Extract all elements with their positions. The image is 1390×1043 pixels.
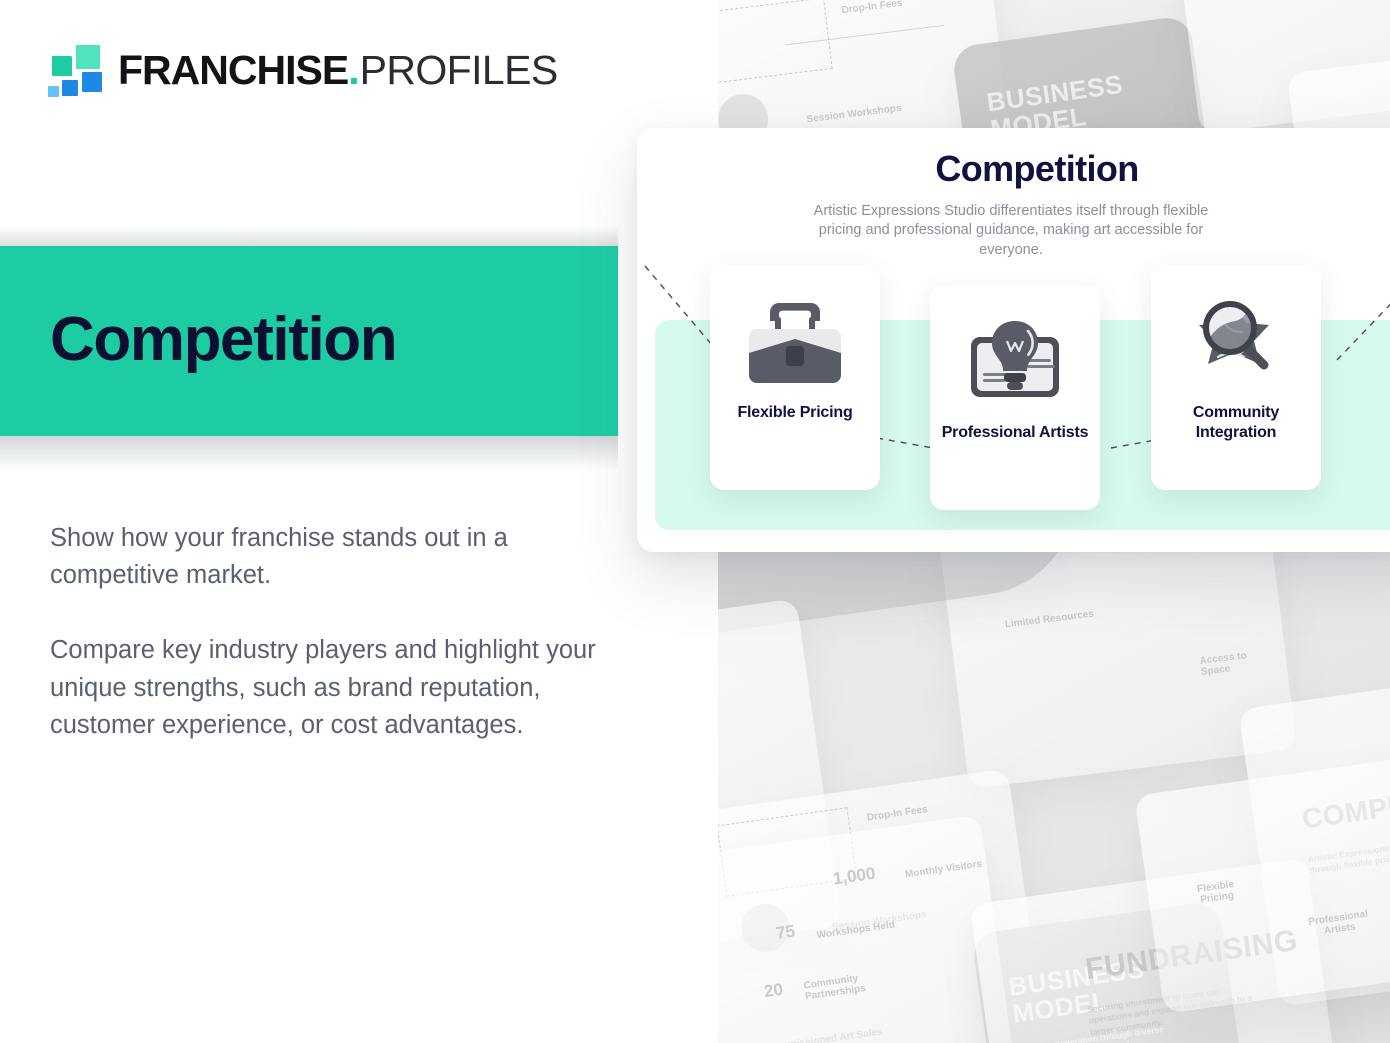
feature-card-flexible-pricing[interactable]: Flexible Pricing — [710, 265, 880, 490]
logo-mark-icon — [48, 44, 104, 96]
brand-name-bold: FRANCHISE — [118, 47, 348, 93]
feature-label: Flexible Pricing — [737, 403, 852, 423]
description-paragraph-1: Show how your franchise stands out in a … — [50, 520, 620, 594]
ghost-row-label: Drop-In Fees — [866, 804, 928, 823]
feature-card-professional-artists[interactable]: Professional Artists — [930, 285, 1100, 510]
ghost-stat-label: Workshops Held — [816, 919, 895, 941]
ghost-stat-value: 20 — [763, 980, 785, 1002]
brand-logo[interactable]: FRANCHISE.PROFILES — [48, 44, 558, 96]
feature-card-community-integration[interactable]: Community Integration — [1151, 265, 1321, 490]
lightbulb-board-icon — [959, 315, 1071, 411]
section-description: Show how your franchise stands out in a … — [50, 520, 620, 744]
ghost-problem-item: Access to Space — [1199, 647, 1273, 678]
star-magnifier-icon — [1180, 295, 1292, 391]
ghost-comp-item: Flexible Pricing — [1187, 878, 1246, 908]
slide-preview-card[interactable]: Competition Artistic Expressions Studio … — [637, 128, 1390, 552]
ghost-row-label: Drop-In Fees — [841, 0, 903, 16]
brand-wordmark: FRANCHISE.PROFILES — [118, 50, 558, 91]
ghost-slide-competition-icons: Flexible Pricing Professional Artists Co… — [1134, 754, 1390, 1014]
ghost-problem-item: Limited Resources — [1001, 608, 1098, 631]
ghost-stat-value: 75 — [775, 921, 797, 943]
feature-label: Community Integration — [1151, 403, 1321, 443]
brand-name-light: PROFILES — [360, 47, 558, 93]
band-shadow-top — [0, 226, 618, 248]
ghost-stat-label: Monthly Visitors — [904, 859, 982, 881]
ghost-stat-label: Community Partnerships — [803, 971, 875, 1003]
ghost-row-label: Session Workshops — [806, 103, 902, 126]
slide-subtitle: Artistic Expressions Studio differentiat… — [813, 202, 1209, 260]
slide-title: Competition — [637, 148, 1390, 190]
page-title: Competition — [50, 309, 396, 371]
briefcase-icon — [739, 295, 851, 391]
feature-label: Professional Artists — [942, 423, 1089, 443]
ghost-comp-item: Professional Artists — [1303, 908, 1375, 940]
brand-dot: . — [348, 47, 359, 93]
band-shadow-bottom — [0, 436, 618, 470]
ghost-stat-value: 1,000 — [832, 864, 877, 890]
description-paragraph-2: Compare key industry players and highlig… — [50, 632, 620, 744]
